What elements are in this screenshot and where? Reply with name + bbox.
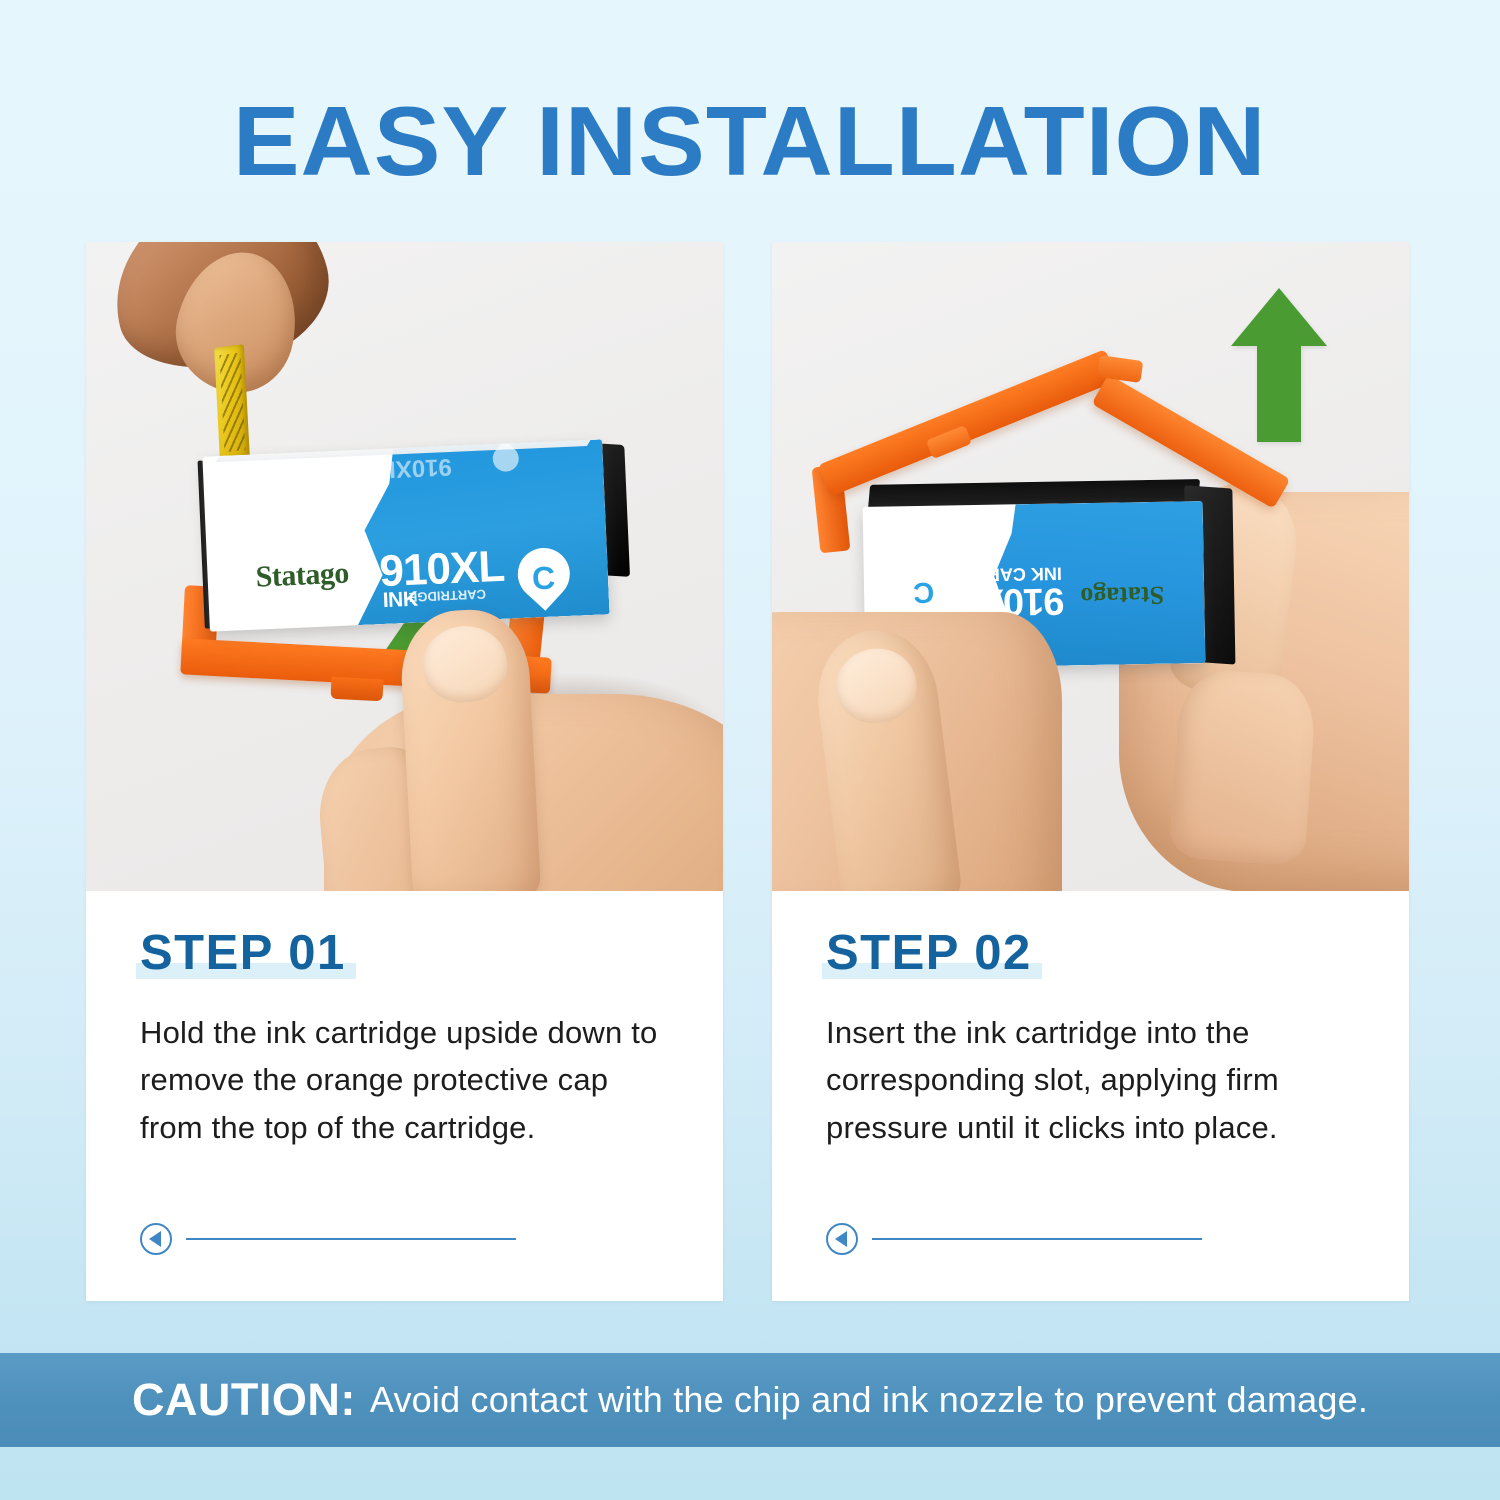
play-left-icon <box>826 1223 858 1255</box>
ink-drop-icon: C <box>516 539 571 603</box>
step-02-label: STEP 02 <box>826 926 1032 980</box>
step-01-divider <box>140 1223 516 1255</box>
step-02-text-area: STEP 02 Insert the ink cartridge into th… <box>772 891 1409 1301</box>
step-01-heading: STEP 01 <box>140 925 346 981</box>
cartridge-brand: Statago <box>1080 580 1164 611</box>
cartridge-color-letter: C <box>913 575 935 608</box>
step-02-photo: Statago 910XL INK CARTRIDGE C <box>772 242 1409 891</box>
caution-keyword: CAUTION: <box>132 1374 356 1426</box>
cartridge-brand: Statago <box>255 557 350 595</box>
caution-message: Avoid contact with the chip and ink nozz… <box>370 1379 1368 1421</box>
right-hand-finger-lower <box>1169 667 1318 866</box>
step-02-description: Insert the ink cartridge into the corres… <box>826 1009 1355 1151</box>
header: EASY INSTALLATION <box>0 0 1500 190</box>
yellow-pull-tab <box>214 344 250 463</box>
play-left-icon <box>140 1223 172 1255</box>
step-01-description: Hold the ink cartridge upside down to re… <box>140 1009 669 1151</box>
holding-hand-thumb <box>398 607 542 891</box>
divider-line <box>186 1238 516 1240</box>
step-card-02: Statago 910XL INK CARTRIDGE C STEP 0 <box>772 242 1409 1301</box>
divider-line <box>872 1238 1202 1240</box>
cartridge-ghost-model: 910XL <box>380 452 452 483</box>
caution-bar: CAUTION: Avoid contact with the chip and… <box>0 1353 1500 1447</box>
step-card-01: 910XL Statago 910XL INK CARTRIDGE C <box>86 242 723 1301</box>
step-01-photo: 910XL Statago 910XL INK CARTRIDGE C <box>86 242 723 891</box>
ink-cartridge: 910XL Statago 910XL INK CARTRIDGE C <box>202 439 609 631</box>
cartridge-color-letter: C <box>531 560 556 598</box>
step-01-label: STEP 01 <box>140 926 346 980</box>
step-01-text-area: STEP 01 Hold the ink cartridge upside do… <box>86 891 723 1301</box>
page-title: EASY INSTALLATION <box>233 92 1267 190</box>
step-02-divider <box>826 1223 1202 1255</box>
steps-container: 910XL Statago 910XL INK CARTRIDGE C <box>86 242 1410 1301</box>
step-02-heading: STEP 02 <box>826 925 1032 981</box>
